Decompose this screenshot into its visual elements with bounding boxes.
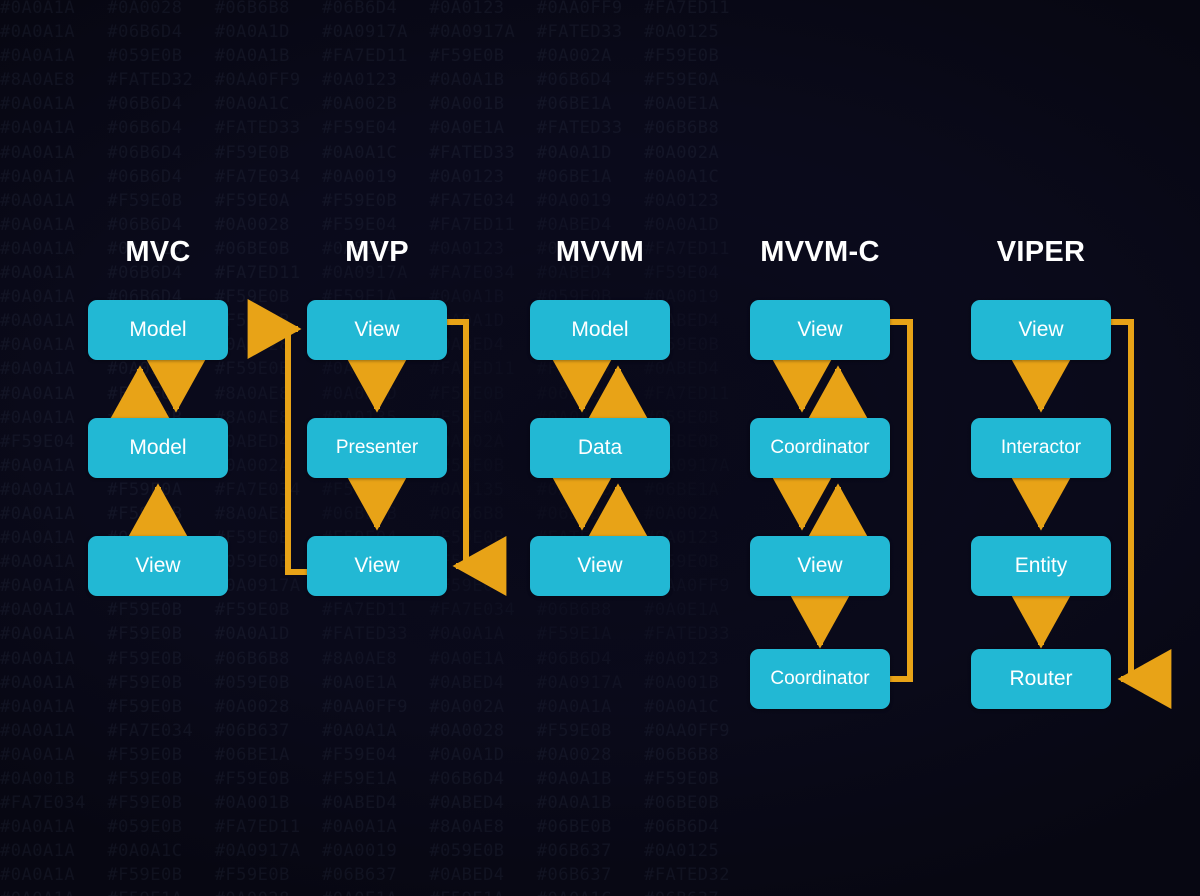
- node-mvvmc-view-top[interactable]: View: [750, 300, 890, 360]
- node-mvp-view-bottom[interactable]: View: [307, 536, 447, 596]
- node-mvvm-data[interactable]: Data: [530, 418, 670, 478]
- node-mvp-view-top[interactable]: View: [307, 300, 447, 360]
- viper-connectors: [1041, 322, 1131, 679]
- mvvmc-loop-view-to-coordinator2: [890, 322, 910, 679]
- node-mvc-model-top[interactable]: Model: [88, 300, 228, 360]
- column-title-viper: VIPER: [971, 236, 1111, 269]
- node-viper-router[interactable]: Router: [971, 649, 1111, 709]
- node-mvp-presenter[interactable]: Presenter: [307, 418, 447, 478]
- node-viper-entity[interactable]: Entity: [971, 536, 1111, 596]
- node-viper-view[interactable]: View: [971, 300, 1111, 360]
- architecture-patterns-diagram: MVC Model Model View MVP View Presenter …: [0, 0, 1200, 896]
- node-mvvm-model[interactable]: Model: [530, 300, 670, 360]
- viper-loop-view-to-router: [1111, 322, 1131, 679]
- column-title-mvvmc: MVVM-C: [750, 236, 890, 269]
- node-mvvm-view[interactable]: View: [530, 536, 670, 596]
- node-mvvmc-view-middle[interactable]: View: [750, 536, 890, 596]
- node-mvc-model-middle[interactable]: Model: [88, 418, 228, 478]
- node-mvvmc-coordinator-bottom[interactable]: Coordinator: [750, 649, 890, 709]
- column-title-mvc: MVC: [88, 236, 228, 269]
- mvp-loop-view-bottom-to-view-top: [288, 329, 307, 572]
- column-title-mvp: MVP: [307, 236, 447, 269]
- column-title-mvvm: MVVM: [530, 236, 670, 269]
- mvp-loop-view-top-to-view-bottom: [447, 322, 466, 566]
- node-mvvmc-coordinator-top[interactable]: Coordinator: [750, 418, 890, 478]
- node-viper-interactor[interactable]: Interactor: [971, 418, 1111, 478]
- node-mvc-view-bottom[interactable]: View: [88, 536, 228, 596]
- mvvmc-connectors: [802, 322, 910, 679]
